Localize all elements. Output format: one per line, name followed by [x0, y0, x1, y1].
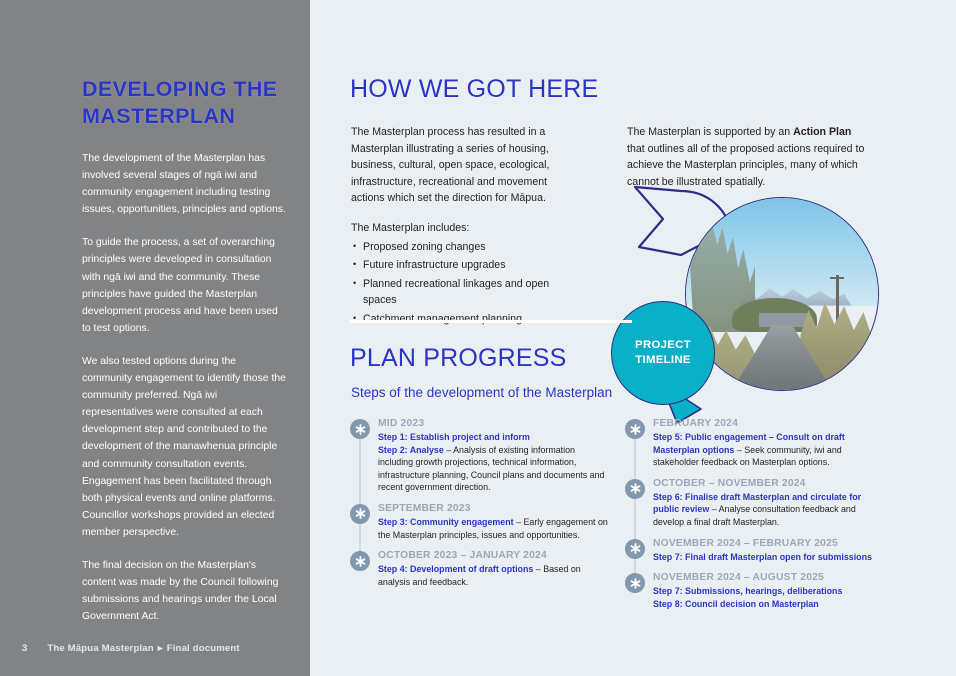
list-item: Planned recreational linkages and open s… — [351, 276, 581, 309]
timeline-step-label: Step 4: Development of draft options — [378, 564, 533, 574]
sidebar-paragraph: The development of the Masterplan has in… — [82, 150, 287, 218]
footer-subtitle-text: Final document — [167, 643, 240, 654]
timeline-column-right: FEBRUARY 2024Step 5: Public engagement –… — [625, 418, 887, 619]
timeline-date: SEPTEMBER 2023 — [378, 503, 612, 514]
timeline-date: FEBRUARY 2024 — [653, 418, 887, 429]
how-left-paragraph: The Masterplan process has resulted in a… — [351, 124, 581, 207]
timeline-step-label: Step 8: Council decision on Masterplan — [653, 599, 819, 609]
includes-intro: The Masterplan includes: — [351, 220, 581, 237]
sidebar-heading: DEVELOPING THE MASTERPLAN — [82, 76, 297, 130]
how-we-got-here-title: HOW WE GOT HERE — [350, 75, 598, 104]
project-timeline-badge-circle: PROJECT TIMELINE — [611, 301, 715, 405]
sidebar-paragraph: To guide the process, a set of overarchi… — [82, 234, 287, 337]
timeline-item: NOVEMBER 2024 – FEBRUARY 2025Step 7: Fin… — [625, 538, 887, 564]
timeline-steps: Step 6: Finalise draft Masterplan and ci… — [653, 491, 887, 529]
page-footer: 3 The Māpua Masterplan▸Final document — [22, 643, 240, 654]
timeline-item: MID 2023Step 1: Establish project and in… — [350, 418, 612, 494]
list-item: Proposed zoning changes — [351, 239, 581, 256]
timeline-date: NOVEMBER 2024 – FEBRUARY 2025 — [653, 538, 887, 549]
list-item: Future infrastructure upgrades — [351, 257, 581, 274]
timeline-item: OCTOBER – NOVEMBER 2024Step 6: Finalise … — [625, 478, 887, 529]
timeline-date: NOVEMBER 2024 – AUGUST 2025 — [653, 572, 887, 583]
timeline-step: Step 5: Public engagement – Consult on d… — [653, 431, 887, 469]
action-plan-pre: The Masterplan is supported by an — [627, 126, 793, 138]
timeline-steps: Step 4: Development of draft options – B… — [378, 563, 612, 588]
footer-title-text: The Māpua Masterplan — [47, 643, 153, 654]
timeline-step-label: Step 3: Community engagement — [378, 517, 514, 527]
timeline-marker-star-icon — [350, 504, 370, 524]
footer-separator-icon: ▸ — [158, 643, 163, 654]
main-content: HOW WE GOT HERE The Masterplan process h… — [310, 0, 956, 676]
timeline-step: Step 8: Council decision on Masterplan — [653, 598, 887, 611]
badge-line-2: TIMELINE — [635, 353, 691, 368]
masterplan-includes-list: Proposed zoning changesFuture infrastruc… — [351, 239, 581, 328]
timeline-date: MID 2023 — [378, 418, 612, 429]
timeline-steps: Step 7: Submissions, hearings, deliberat… — [653, 585, 887, 610]
plan-progress-subtitle: Steps of the development of the Masterpl… — [351, 385, 612, 400]
timeline-date: OCTOBER 2023 – JANUARY 2024 — [378, 550, 612, 561]
footer-document-title: The Māpua Masterplan▸Final document — [47, 643, 239, 654]
timeline-item: FEBRUARY 2024Step 5: Public engagement –… — [625, 418, 887, 469]
plan-progress-title: PLAN PROGRESS — [350, 344, 567, 373]
timeline-marker-star-icon — [625, 573, 645, 593]
timeline-item: SEPTEMBER 2023Step 3: Community engageme… — [350, 503, 612, 541]
how-we-got-here-right-column: The Masterplan is supported by an Action… — [627, 124, 870, 190]
timeline-marker-star-icon — [625, 419, 645, 439]
timeline-steps: Step 7: Final draft Masterplan open for … — [653, 551, 887, 564]
photo-buildings — [759, 313, 809, 326]
timeline-step: Step 7: Submissions, hearings, deliberat… — [653, 585, 887, 598]
timeline-step-label: Step 7: Submissions, hearings, deliberat… — [653, 586, 842, 596]
timeline-steps: Step 5: Public engagement – Consult on d… — [653, 431, 887, 469]
sidebar-paragraph: The final decision on the Masterplan's c… — [82, 557, 287, 625]
timeline-marker-star-icon — [625, 479, 645, 499]
badge-line-1: PROJECT — [635, 338, 691, 353]
timeline-step: Step 7: Final draft Masterplan open for … — [653, 551, 887, 564]
project-timeline-badge: PROJECT TIMELINE — [611, 301, 715, 405]
timeline-column-left: MID 2023Step 1: Establish project and in… — [350, 418, 612, 597]
timeline-step: Step 2: Analyse – Analysis of existing i… — [378, 444, 612, 494]
action-plan-bold: Action Plan — [793, 126, 851, 138]
action-plan-post: that outlines all of the proposed action… — [627, 143, 864, 188]
timeline-marker-star-icon — [625, 539, 645, 559]
section-divider — [350, 320, 632, 323]
sidebar-paragraph: We also tested options during the commun… — [82, 353, 287, 541]
action-plan-paragraph: The Masterplan is supported by an Action… — [627, 124, 870, 190]
timeline-step: Step 1: Establish project and inform — [378, 431, 612, 444]
timeline-step: Step 6: Finalise draft Masterplan and ci… — [653, 491, 887, 529]
timeline-steps: Step 1: Establish project and informStep… — [378, 431, 612, 494]
timeline-marker-star-icon — [350, 419, 370, 439]
timeline-item: OCTOBER 2023 – JANUARY 2024Step 4: Devel… — [350, 550, 612, 588]
timeline-steps: Step 3: Community engagement – Early eng… — [378, 516, 612, 541]
timeline-date: OCTOBER – NOVEMBER 2024 — [653, 478, 887, 489]
timeline-marker-star-icon — [350, 551, 370, 571]
sidebar-body-text: The development of the Masterplan has in… — [82, 150, 287, 641]
how-we-got-here-left-column: The Masterplan process has resulted in a… — [351, 124, 581, 330]
footer-page-number: 3 — [22, 643, 27, 654]
timeline-step-label: Step 2: Analyse — [378, 445, 444, 455]
timeline-item: NOVEMBER 2024 – AUGUST 2025Step 7: Submi… — [625, 572, 887, 610]
timeline-step-label: Step 7: Final draft Masterplan open for … — [653, 552, 872, 562]
timeline-step-label: Step 1: Establish project and inform — [378, 432, 530, 442]
left-sidebar-panel: DEVELOPING THE MASTERPLAN The developmen… — [0, 0, 310, 676]
project-timeline-graphic: PROJECT TIMELINE — [685, 197, 879, 391]
timeline-step: Step 3: Community engagement – Early eng… — [378, 516, 612, 541]
timeline-step: Step 4: Development of draft options – B… — [378, 563, 612, 588]
